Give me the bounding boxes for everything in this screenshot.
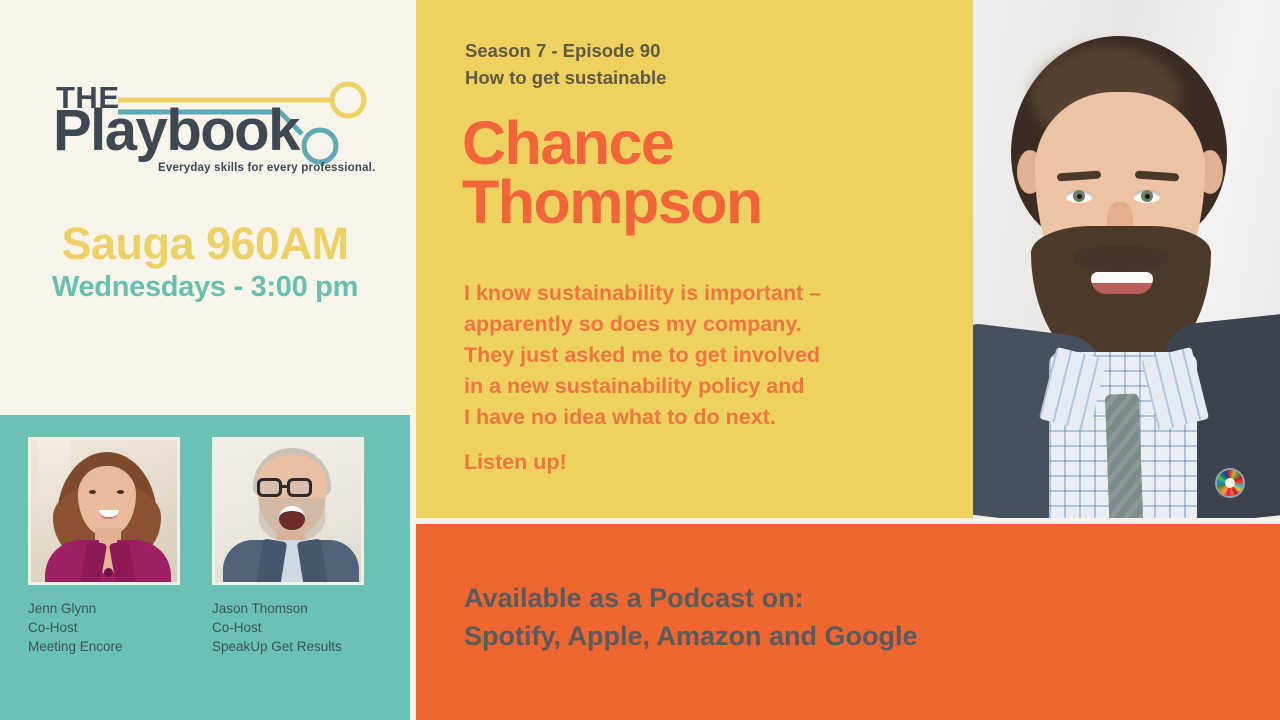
host-company: SpeakUp Get Results	[212, 637, 364, 656]
podcast-line-2: Spotify, Apple, Amazon and Google	[464, 617, 918, 655]
logo-tagline: Everyday skills for every professional.	[158, 162, 375, 174]
quote-line-1: I know sustainability is important –	[464, 278, 944, 309]
guest-name: Chance Thompson	[462, 114, 762, 232]
host-role: Co-Host	[212, 618, 364, 637]
podcast-line-1: Available as a Podcast on:	[464, 579, 918, 617]
episode-season-line: Season 7 - Episode 90	[465, 38, 666, 65]
host-card: Jenn Glynn Co-Host Meeting Encore	[28, 437, 180, 656]
host-name: Jason Thomson	[212, 599, 364, 618]
host-caption: Jason Thomson Co-Host SpeakUp Get Result…	[212, 599, 364, 656]
brand-panel: THE Playbook Everyday skills for every p…	[0, 0, 410, 414]
host-name: Jenn Glynn	[28, 599, 180, 618]
quote-line-5: I have no idea what to do next.	[464, 402, 944, 433]
podcast-availability-panel: Available as a Podcast on: Spotify, Appl…	[416, 524, 1280, 720]
hosts-panel: Jenn Glynn Co-Host Meeting Encore	[0, 415, 410, 720]
host-avatar	[212, 437, 364, 585]
host-caption: Jenn Glynn Co-Host Meeting Encore	[28, 599, 180, 656]
station-block: Sauga 960AM Wednesdays - 3:00 pm	[0, 220, 410, 304]
podcast-promo-card: THE Playbook Everyday skills for every p…	[0, 0, 1280, 720]
host-avatar	[28, 437, 180, 585]
quote-line-4: in a new sustainability policy and	[464, 371, 944, 402]
quote-cta: Listen up!	[464, 447, 944, 478]
episode-title: How to get sustainable	[465, 65, 666, 92]
guest-first-name: Chance	[462, 114, 762, 173]
episode-quote: I know sustainability is important – app…	[464, 278, 944, 478]
station-schedule: Wednesdays - 3:00 pm	[0, 271, 410, 304]
guest-last-name: Thompson	[462, 173, 762, 232]
station-name: Sauga 960AM	[0, 220, 410, 267]
episode-panel: Season 7 - Episode 90 How to get sustain…	[416, 0, 973, 518]
left-divider	[0, 408, 410, 415]
host-role: Co-Host	[28, 618, 180, 637]
quote-line-2: apparently so does my company.	[464, 309, 944, 340]
host-company: Meeting Encore	[28, 637, 180, 656]
quote-line-3: They just asked me to get involved	[464, 340, 944, 371]
episode-meta: Season 7 - Episode 90 How to get sustain…	[465, 38, 666, 92]
playbook-logo: THE Playbook Everyday skills for every p…	[48, 78, 378, 193]
guest-photo	[973, 0, 1280, 518]
host-card: Jason Thomson Co-Host SpeakUp Get Result…	[212, 437, 364, 656]
podcast-availability-text: Available as a Podcast on: Spotify, Appl…	[464, 579, 918, 656]
logo-playbook-text: Playbook	[53, 102, 299, 160]
